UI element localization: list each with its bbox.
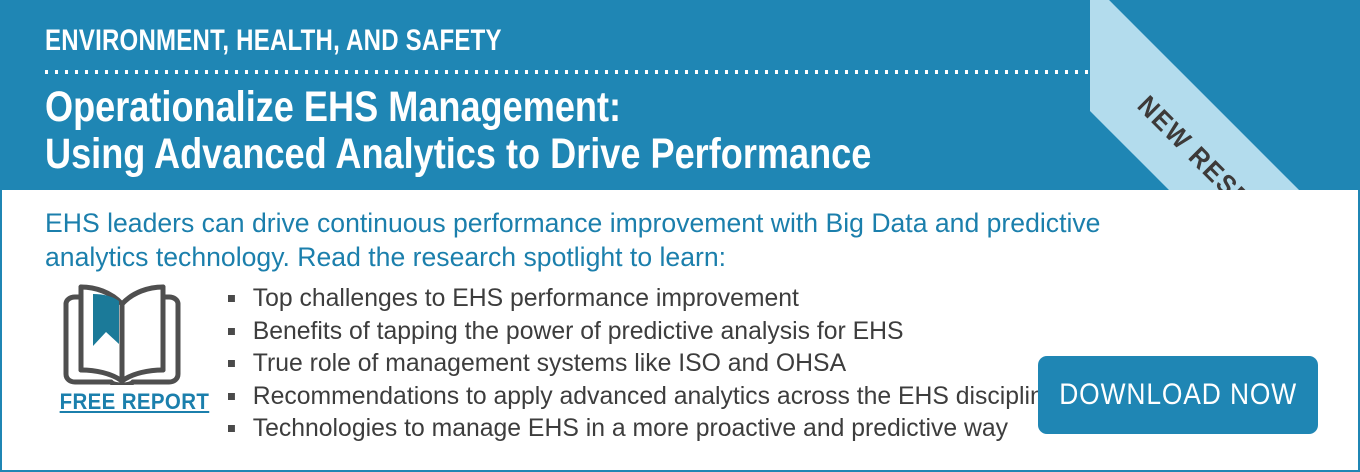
list-item-label: Recommendations to apply advanced analyt…: [253, 382, 1058, 410]
banner-header: ENVIRONMENT, HEALTH, AND SAFETY Operatio…: [0, 0, 1360, 190]
list-item-label: True role of management systems like ISO…: [253, 349, 846, 377]
bullet-square-icon: [228, 393, 235, 400]
page-title: Operationalize EHS Management: Using Adv…: [45, 84, 871, 178]
page-title-line-1: Operationalize EHS Management:: [45, 84, 871, 131]
free-report-label[interactable]: FREE REPORT: [60, 389, 210, 415]
intro-text: EHS leaders can drive continuous perform…: [45, 206, 1040, 274]
free-report-link[interactable]: FREE REPORT: [54, 282, 190, 415]
list-item: Benefits of tapping the power of predict…: [228, 315, 1058, 348]
intro-text-line-2: analytics technology. Read the research …: [45, 240, 1040, 274]
list-item-label: Top challenges to EHS performance improv…: [253, 284, 799, 312]
benefits-list: Top challenges to EHS performance improv…: [228, 282, 1066, 445]
list-item: Top challenges to EHS performance improv…: [228, 282, 1058, 315]
list-item: Technologies to manage EHS in a more pro…: [228, 412, 1058, 445]
page-title-line-2: Using Advanced Analytics to Drive Perfor…: [45, 131, 871, 178]
banner-body: EHS leaders can drive continuous perform…: [0, 190, 1360, 472]
list-item-label: Benefits of tapping the power of predict…: [253, 317, 904, 345]
list-item: Recommendations to apply advanced analyt…: [228, 380, 1058, 413]
open-book-icon: [59, 282, 185, 385]
list-item-label: Technologies to manage EHS in a more pro…: [253, 414, 1008, 442]
bullet-square-icon: [228, 360, 235, 367]
eyebrow-category: ENVIRONMENT, HEALTH, AND SAFETY: [45, 24, 502, 58]
list-item: True role of management systems like ISO…: [228, 347, 1058, 380]
intro-text-line-1: EHS leaders can drive continuous perform…: [45, 206, 1040, 240]
download-now-button[interactable]: DOWNLOAD NOW: [1038, 356, 1318, 434]
bullet-square-icon: [228, 425, 235, 432]
promo-banner: ENVIRONMENT, HEALTH, AND SAFETY Operatio…: [0, 0, 1360, 472]
bullet-square-icon: [228, 328, 235, 335]
dotted-divider: [45, 70, 1110, 74]
download-now-label: DOWNLOAD NOW: [1059, 378, 1297, 412]
bullet-square-icon: [228, 295, 235, 302]
